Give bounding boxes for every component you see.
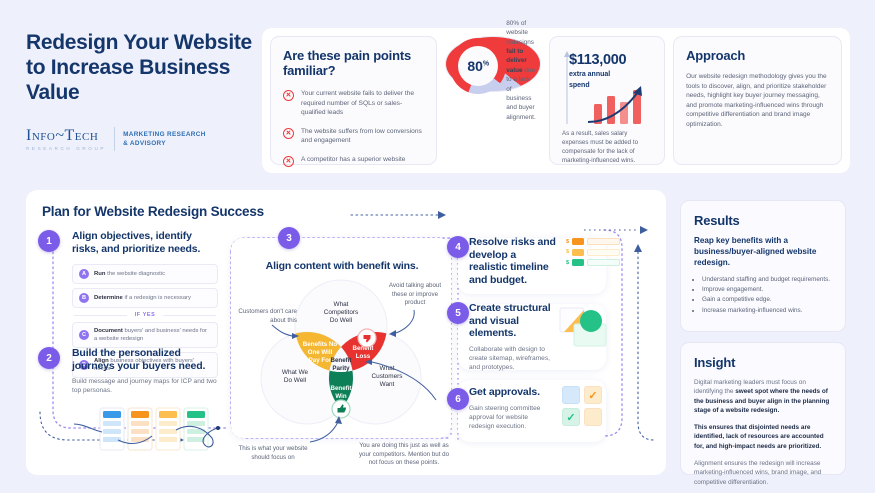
svg-text:Parity: Parity (332, 365, 350, 372)
spend-stat-card: $113,000 extra annual spend As a result,… (549, 36, 665, 165)
substep-c[interactable]: C Document buyers' and business' needs f… (72, 322, 218, 348)
svg-text:Loss: Loss (356, 353, 371, 360)
budget-row: $ (566, 259, 620, 266)
substep-a[interactable]: A Run the website diagnostic (72, 264, 218, 284)
step-3-heading: Align content with benefit wins. (242, 260, 442, 273)
pain-point-text: A competitor has a superior website (301, 155, 405, 165)
approval-box-empty-orange (584, 408, 602, 426)
svg-text:Benefits No: Benefits No (303, 341, 338, 348)
donut-chart: 80% (450, 38, 506, 94)
plan-panel: Plan for Website Redesign Success 1 (26, 190, 666, 475)
insight-paragraph-3: Alignment ensures the redesign will incr… (694, 459, 832, 487)
statistic-donut-card: 80% 80% of website redesigns fail to del… (445, 36, 541, 92)
svg-text:Pay For: Pay For (309, 357, 332, 364)
plan-title: Plan for Website Redesign Success (42, 204, 666, 219)
approval-box-checked-green: ✓ (562, 408, 580, 426)
step-4-heading: Resolve risks and develop a realistic ti… (469, 236, 557, 286)
svg-text:Benefit: Benefit (331, 385, 352, 392)
hero-block: Redesign Your Website to Increase Busine… (26, 30, 256, 151)
svg-text:Benefit: Benefit (331, 357, 352, 364)
venn-anno-topright: Avoid talking about these or improve pro… (384, 282, 446, 308)
infographic-page: Redesign Your Website to Increase Busine… (0, 0, 875, 493)
budget-bar (587, 238, 620, 245)
top-cards-bar: Are these pain points familiar? Your cur… (262, 28, 850, 173)
venn-anno-bottomright: You are doing this just as well as your … (358, 442, 450, 468)
budget-swatch (572, 249, 584, 256)
step-6-body: Gain steering committee approval for web… (469, 404, 554, 432)
brand-logo: Info~Tech RESEARCH GROUP MARKETING RESEA… (26, 127, 256, 151)
svg-text:Do Well: Do Well (284, 377, 306, 384)
design-shapes-icon (556, 304, 616, 352)
step-6-heading: Get approvals. (469, 386, 554, 399)
svg-text:Customers: Customers (372, 373, 403, 380)
growth-bar-chart-icon (586, 82, 652, 124)
insight-paragraph-2: This ensures that disjointed needs are i… (694, 423, 832, 451)
list-item: A competitor has a superior website (283, 155, 424, 167)
insight-heading: Insight (694, 355, 832, 370)
results-subheading: Reap key benefits with a business/buyer-… (694, 235, 832, 268)
donut-caption: 80% of website redesigns fail to deliver… (506, 19, 535, 122)
step-4-block: Resolve risks and develop a realistic ti… (469, 236, 557, 286)
substep-text: Document buyers' and business' needs for… (94, 327, 211, 343)
cross-circle-icon (283, 128, 294, 139)
pain-points-card: Are these pain points familiar? Your cur… (270, 36, 437, 165)
budget-swatch (572, 259, 584, 266)
logo-subtext: RESEARCH GROUP (26, 146, 106, 151)
results-panel: Results Reap key benefits with a busines… (680, 200, 846, 332)
svg-text:Do Well: Do Well (330, 317, 352, 324)
step-2-heading: Build the personalized journeys your buy… (72, 347, 222, 372)
cross-circle-icon (283, 156, 294, 167)
svg-text:Competitors: Competitors (324, 309, 358, 316)
approval-box-empty (562, 386, 580, 404)
step-6-block: Get approvals. Gain steering committee a… (469, 386, 554, 432)
step-6-number: 6 (447, 388, 469, 410)
approach-heading: Approach (686, 48, 829, 63)
budget-swatch (572, 238, 584, 245)
step-1-heading: Align objectives, identify risks, and pr… (72, 230, 218, 255)
insight-paragraph-1: Digital marketing leaders must focus on … (694, 378, 832, 415)
journey-map-icon (72, 400, 222, 458)
pain-point-text: Your current website fails to deliver th… (301, 89, 424, 118)
substep-text: Determine if a redesign is necessary (94, 294, 191, 302)
step-1-number: 1 (38, 230, 60, 252)
dollar-icon: $ (566, 239, 569, 245)
step-5-number: 5 (447, 302, 469, 324)
pain-points-heading: Are these pain points familiar? (283, 48, 424, 78)
list-item: Improve engagement. (702, 285, 832, 294)
substep-letter: C (79, 330, 89, 340)
venn-anno-bottomleft: This is what your website should focus o… (236, 445, 310, 462)
pain-point-text: The website suffers from low conversions… (301, 127, 424, 146)
logo-tagline-1: MARKETING RESEARCH (123, 130, 206, 139)
step-4-number: 4 (447, 236, 469, 258)
results-list: Understand staffing and budget requireme… (694, 275, 832, 315)
donut-ring: 80% (450, 38, 506, 94)
spend-label-1: extra annual (569, 70, 652, 79)
substep-text: Run the website diagnostic (94, 270, 165, 278)
budget-row: $ (566, 249, 620, 256)
step-5-heading: Create structural and visual elements. (469, 302, 554, 340)
budget-row: $ (566, 238, 620, 245)
budget-bar (587, 259, 620, 266)
logo-wordmark: Info~Tech (26, 127, 106, 145)
approvals-icon: ✓ ✓ (562, 386, 602, 426)
substep-letter: A (79, 269, 89, 279)
step-3-number: 3 (278, 227, 300, 249)
donut-value: 80% (467, 58, 489, 74)
substep-letter: B (79, 293, 89, 303)
step-5-body: Collaborate with design to create sitema… (469, 345, 554, 373)
step-3-heading-wrap: Align content with benefit wins. (242, 260, 442, 273)
spend-amount: $113,000 (569, 48, 652, 68)
svg-text:What We: What We (282, 369, 309, 376)
svg-text:One Will: One Will (308, 349, 333, 356)
if-yes-divider: IF YES (72, 312, 218, 318)
step-2-body: Build message and journey maps for ICP a… (72, 377, 222, 396)
substep-b[interactable]: B Determine if a redesign is necessary (72, 288, 218, 308)
svg-text:Want: Want (380, 381, 395, 388)
venn-anno-left: Customers don't care about this (237, 308, 297, 325)
spend-caption: As a result, sales salary expenses must … (562, 129, 652, 165)
svg-text:What: What (334, 301, 349, 308)
page-title: Redesign Your Website to Increase Busine… (26, 30, 256, 105)
list-item: Understand staffing and budget requireme… (702, 275, 832, 284)
step-5-block: Create structural and visual elements. C… (469, 302, 554, 373)
budget-icon: $ $ $ (566, 238, 620, 270)
dollar-icon: $ (566, 260, 569, 266)
logo-divider (114, 127, 115, 151)
dollar-icon: $ (566, 249, 569, 255)
insight-panel: Insight Digital marketing leaders must f… (680, 342, 846, 475)
list-item: Increase marketing-influenced wins. (702, 306, 832, 315)
logo-tagline-2: & ADVISORY (123, 139, 206, 148)
approach-text: Our website redesign methodology gives y… (686, 72, 829, 130)
budget-bar (587, 249, 620, 256)
axis-arrow-icon (562, 48, 572, 126)
svg-text:What: What (380, 365, 395, 372)
pain-points-list: Your current website fails to deliver th… (283, 89, 424, 167)
list-item: Gain a competitive edge. (702, 295, 832, 304)
step-2-block: Build the personalized journeys your buy… (72, 347, 222, 463)
list-item: The website suffers from low conversions… (283, 127, 424, 146)
results-heading: Results (694, 213, 832, 228)
svg-text:Win: Win (335, 393, 347, 400)
list-item: Your current website fails to deliver th… (283, 89, 424, 118)
approval-box-checked-orange: ✓ (584, 386, 602, 404)
step-2-number: 2 (38, 347, 60, 369)
cross-circle-icon (283, 90, 294, 101)
approach-card: Approach Our website redesign methodolog… (673, 36, 842, 165)
